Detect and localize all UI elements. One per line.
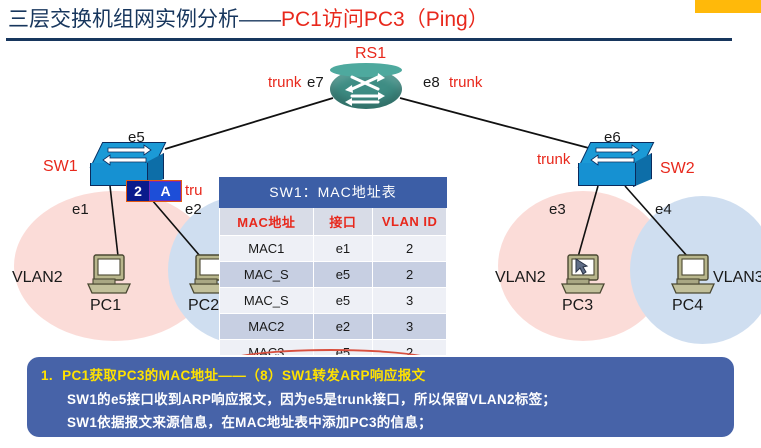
packet-tag-payload: A bbox=[149, 181, 181, 201]
explanation-panel: 1.PC1获取PC3的MAC地址——（8）SW1转发ARP响应报文 SW1的e5… bbox=[25, 355, 736, 439]
network-topology-diagram: RS1 trunk e7 e8 trunk SW1 e5 tru e1 e2 2… bbox=[0, 41, 761, 346]
sw2-uplink-trunk-label: trunk bbox=[537, 151, 570, 168]
mac-table-vlan-cell: 3 bbox=[373, 314, 447, 340]
mac-table-col-vlan: VLAN ID bbox=[373, 208, 447, 236]
mac-table-vlan-cell: 2 bbox=[373, 262, 447, 288]
router-rs1[interactable] bbox=[330, 63, 402, 115]
vlan-label-right-vlan3: VLAN3 bbox=[713, 269, 761, 287]
host-label-pc3: PC3 bbox=[562, 297, 593, 315]
computer-icon bbox=[558, 253, 610, 297]
page-title: 三层交换机组网实例分析——PC1访问PC3（Ping） bbox=[8, 6, 748, 36]
mac-table-vlan-cell: 2 bbox=[373, 236, 447, 262]
host-pc3[interactable] bbox=[558, 253, 610, 297]
switch-label-sw1: SW1 bbox=[43, 158, 78, 176]
router-port-e7-label: e7 bbox=[307, 74, 324, 91]
switch-sw2[interactable] bbox=[578, 142, 650, 186]
sw1-arrows-icon bbox=[100, 144, 154, 166]
mac-table-port-cell: e2 bbox=[313, 314, 373, 340]
packet-tag-vlan: 2 bbox=[127, 181, 149, 201]
sw1-port-e2-label: e2 bbox=[185, 201, 202, 218]
router-trunk-right-label: trunk bbox=[449, 74, 482, 91]
mac-table-header-row: MAC地址 接口 VLAN ID bbox=[220, 208, 447, 236]
page-title-main: 三层交换机组网实例分析—— bbox=[8, 8, 281, 31]
sw1-uplink-port-e5-label: e5 bbox=[128, 129, 145, 146]
sw1-port-e1-label: e1 bbox=[72, 201, 89, 218]
page-title-highlight: PC1访问PC3（Ping） bbox=[281, 8, 489, 31]
mac-table-col-mac: MAC地址 bbox=[220, 208, 314, 236]
mac-table-caption: SW1：MAC地址表 bbox=[220, 178, 447, 208]
mac-address-table: SW1：MAC地址表 MAC地址 接口 VLAN ID MAC1e12MAC_S… bbox=[219, 177, 447, 366]
vlan-label-left-vlan2: VLAN2 bbox=[12, 269, 63, 287]
host-pc1[interactable] bbox=[84, 253, 136, 297]
note-heading-line: 1.PC1获取PC3的MAC地址——（8）SW1转发ARP响应报文 bbox=[41, 364, 724, 384]
router-label-rs1: RS1 bbox=[355, 45, 386, 63]
host-label-pc1: PC1 bbox=[90, 297, 121, 315]
mac-table-mac-cell: MAC1 bbox=[220, 236, 314, 262]
mac-table-port-cell: e1 bbox=[313, 236, 373, 262]
sw2-port-e4-label: e4 bbox=[655, 201, 672, 218]
mac-table-row: MAC1e12 bbox=[220, 236, 447, 262]
router-trunk-left-label: trunk bbox=[268, 74, 301, 91]
mac-table-mac-cell: MAC_S bbox=[220, 262, 314, 288]
sw2-port-e3-label: e3 bbox=[549, 201, 566, 218]
mac-table-row: MAC_Se52 bbox=[220, 262, 447, 288]
computer-icon bbox=[84, 253, 136, 297]
mac-table-mac-cell: MAC_S bbox=[220, 288, 314, 314]
mac-table-mac-cell: MAC2 bbox=[220, 314, 314, 340]
note-number: 1. bbox=[41, 368, 53, 383]
switch-label-sw2: SW2 bbox=[660, 160, 695, 178]
router-port-e8-label: e8 bbox=[423, 74, 440, 91]
note-heading-text: PC1获取PC3的MAC地址——（8）SW1转发ARP响应报文 bbox=[62, 368, 425, 383]
sw2-front-face bbox=[578, 163, 636, 186]
mac-table-col-port: 接口 bbox=[313, 208, 373, 236]
router-arrows-icon bbox=[330, 69, 402, 109]
mac-table-caption-row: SW1：MAC地址表 bbox=[220, 178, 447, 208]
note-body-line-2: SW1依据报文来源信息，在MAC地址表中添加PC3的信息； bbox=[67, 411, 724, 431]
packet-tag-vlan2-a: 2 A bbox=[126, 180, 182, 202]
vlan-label-right-vlan2: VLAN2 bbox=[495, 269, 546, 287]
sw1-uplink-trunk-label: tru bbox=[185, 182, 203, 199]
sw2-arrows-icon bbox=[588, 144, 642, 166]
mac-table-row: MAC_Se53 bbox=[220, 288, 447, 314]
note-body-line-1: SW1的e5接口收到ARP响应报文，因为e5是trunk接口，所以保留VLAN2… bbox=[67, 388, 724, 408]
mac-table-port-cell: e5 bbox=[313, 262, 373, 288]
host-label-pc2: PC2 bbox=[188, 297, 219, 315]
mac-table-row: MAC2e23 bbox=[220, 314, 447, 340]
sw2-uplink-port-e6-label: e6 bbox=[604, 129, 621, 146]
host-label-pc4: PC4 bbox=[672, 297, 703, 315]
mac-table-port-cell: e5 bbox=[313, 288, 373, 314]
mac-table-vlan-cell: 3 bbox=[373, 288, 447, 314]
